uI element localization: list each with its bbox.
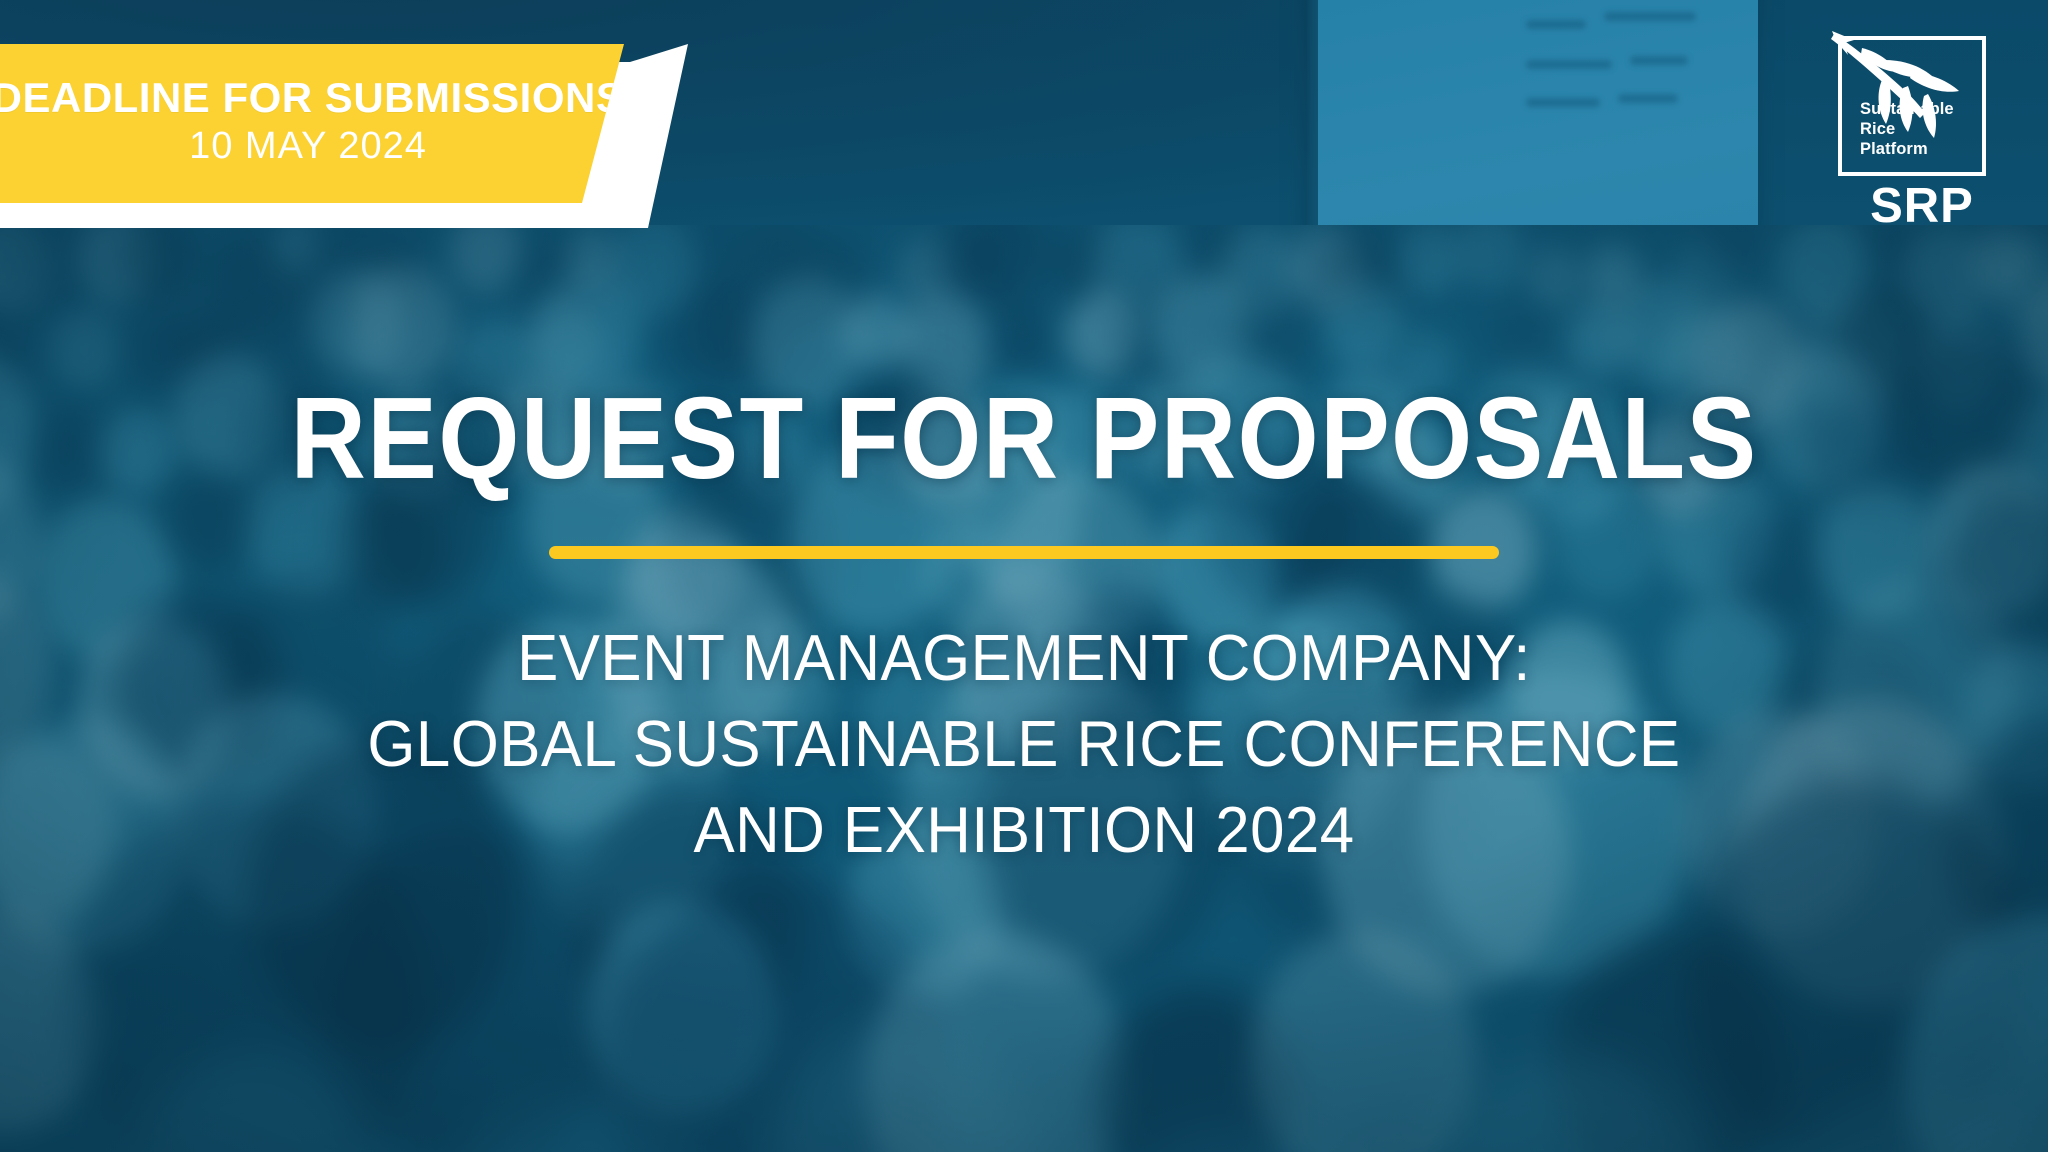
deadline-date: 10 MAY 2024 — [189, 121, 427, 172]
deadline-label: DEADLINE FOR SUBMISSIONS — [0, 75, 624, 120]
logo-abbreviation: SRP — [1824, 182, 2010, 231]
screen-text-line — [1526, 20, 1586, 29]
screen-text-line — [1526, 60, 1612, 69]
deadline-banner-yellow: DEADLINE FOR SUBMISSIONS 10 MAY 2024 — [0, 44, 688, 203]
screen-text-line — [1526, 98, 1600, 107]
page-subtitle: EVENT MANAGEMENT COMPANY: GLOBAL SUSTAIN… — [51, 615, 1997, 872]
main-content: REQUEST FOR PROPOSALS EVENT MANAGEMENT C… — [0, 380, 2048, 872]
logo-word-sustainable: Sustainable — [1860, 99, 1954, 119]
logo-frame: Sustainable Rice Platform — [1838, 36, 1986, 176]
screen-text-line — [1630, 56, 1688, 65]
srp-logo: Sustainable Rice Platform SRP — [1824, 36, 2010, 231]
subtitle-line-2: GLOBAL SUSTAINABLE RICE CONFERENCE — [51, 701, 1997, 787]
logo-word-rice: Rice — [1860, 119, 1954, 139]
logo-word-platform: Platform — [1860, 139, 1954, 159]
poster-canvas: DEADLINE FOR SUBMISSIONS 10 MAY 2024 — [0, 0, 2048, 1152]
screen-text-line — [1604, 12, 1696, 21]
title-divider — [549, 546, 1499, 559]
subtitle-line-3: AND EXHIBITION 2024 — [51, 787, 1997, 873]
subtitle-line-1: EVENT MANAGEMENT COMPANY: — [51, 615, 1997, 701]
page-title: REQUEST FOR PROPOSALS — [102, 380, 1945, 496]
deadline-banner: DEADLINE FOR SUBMISSIONS 10 MAY 2024 — [0, 44, 728, 244]
logo-wordmark-lines: Sustainable Rice Platform — [1860, 99, 1954, 159]
screen-text-line — [1618, 94, 1678, 103]
